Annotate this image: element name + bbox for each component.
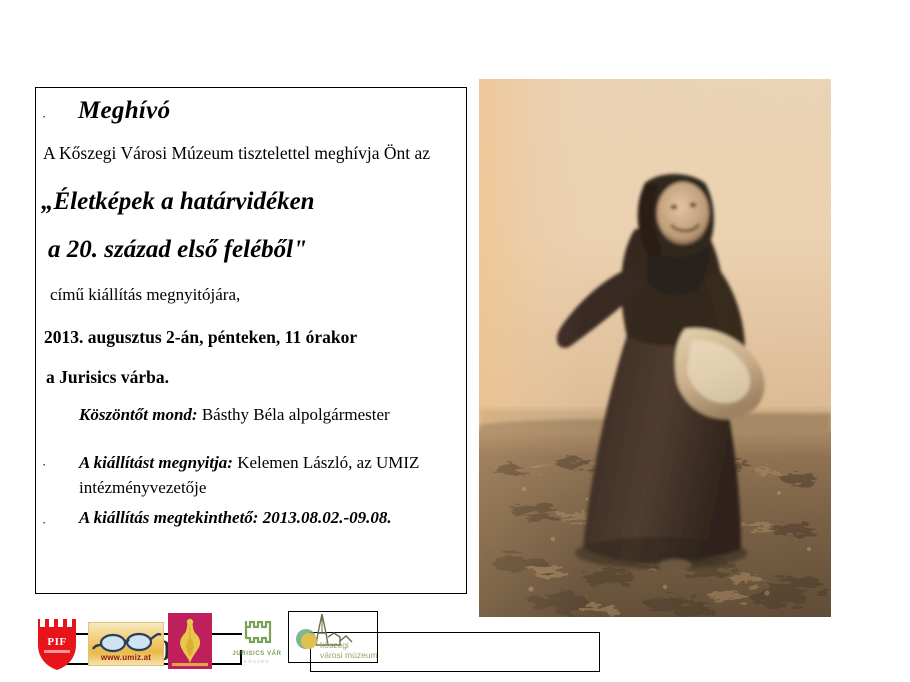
- exhibition-title-line-2: a 20. század első feléből": [48, 236, 307, 264]
- historical-photograph: [479, 79, 831, 617]
- greeting-label: Köszöntőt mond:: [79, 405, 198, 424]
- jurisics-sublabel-text: KŐSZEG: [228, 659, 286, 664]
- viewing-period-line: A kiállítás megtekinthető: 2013.08.02.-0…: [79, 509, 392, 528]
- koszegi-varosi-muzeum-logo: kőszegi városi múzeum: [294, 611, 390, 663]
- invitation-heading: Meghívó: [78, 97, 170, 125]
- bullet-marker-opener: ·: [42, 458, 46, 471]
- greeting-row: Köszöntőt mond: Básthy Béla alpolgármest…: [79, 406, 390, 425]
- coat-of-arms-icon: [168, 613, 212, 669]
- umiz-url-text: www.umiz.at: [89, 653, 163, 662]
- umiz-glasses-logo: www.umiz.at: [88, 622, 164, 666]
- exhibition-subtitle-note: című kiállítás megnyitójára,: [50, 286, 240, 305]
- opener-label: A kiállítást megnyitja:: [79, 453, 233, 472]
- pif-shield-icon: PIF: [36, 615, 78, 671]
- bullet-marker-viewing: ·: [42, 516, 46, 529]
- opener-row: A kiállítást megnyitja: Kelemen László, …: [79, 451, 439, 500]
- koszeg-coat-of-arms: [168, 613, 212, 669]
- event-date-line: 2013. augusztus 2-án, pénteken, 11 órako…: [44, 328, 357, 347]
- exhibition-title-line-1: „Életképek a határvidéken: [41, 188, 315, 216]
- bullet-marker-heading: ·: [42, 110, 46, 123]
- castle-outline-icon: [228, 618, 286, 648]
- greeting-value: Básthy Béla alpolgármester: [198, 405, 390, 424]
- event-venue-line: a Jurisics várba.: [46, 368, 169, 387]
- invitation-intro: A Kőszegi Városi Múzeum tisztelettel meg…: [43, 144, 430, 163]
- pif-shield-logo: PIF: [36, 615, 78, 671]
- svg-text:PIF: PIF: [47, 636, 66, 648]
- jurisics-label-text: JURISICS VÁR: [228, 651, 286, 657]
- museum-label-text: kőszegi városi múzeum: [320, 640, 378, 661]
- invitation-card: · Meghívó A Kőszegi Városi Múzeum tiszte…: [35, 87, 467, 594]
- jurisics-var-logo: JURISICS VÁR KŐSZEG: [228, 618, 286, 664]
- photograph-artwork: [479, 79, 831, 617]
